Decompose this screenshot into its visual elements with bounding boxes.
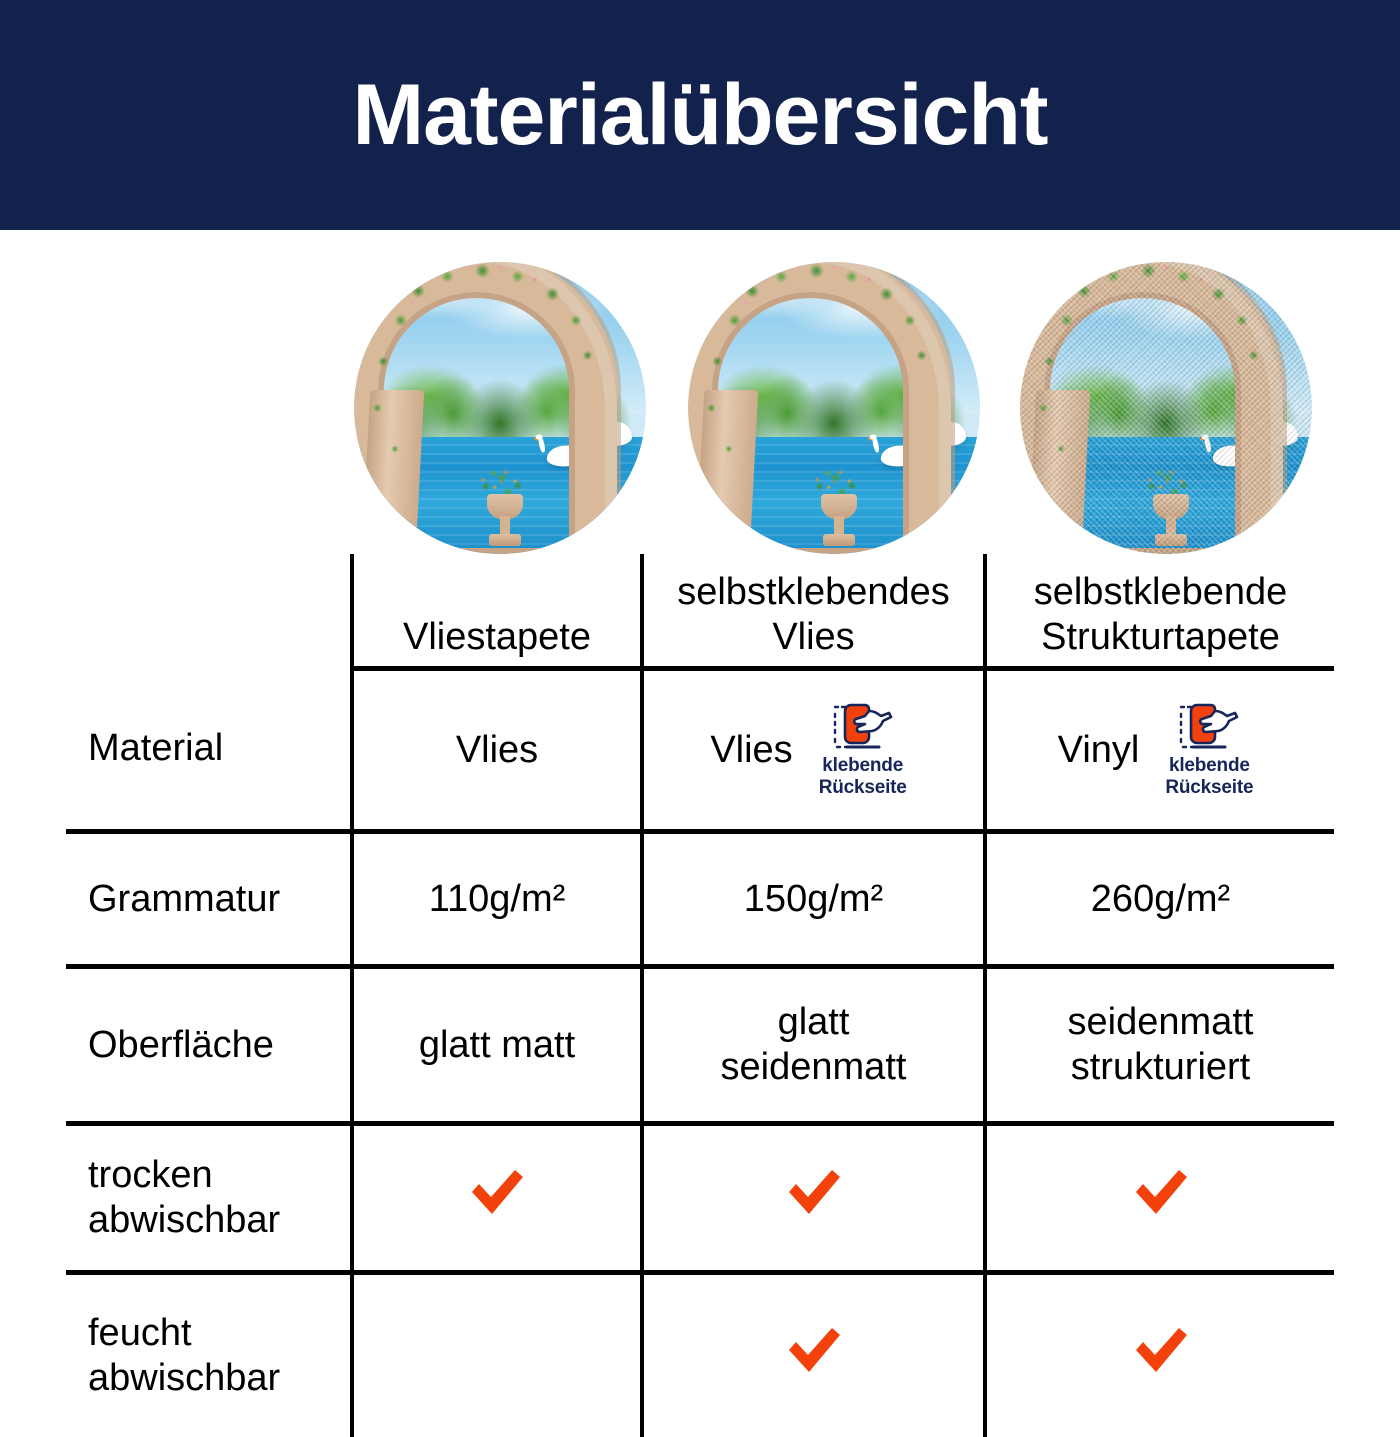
row-label-material: Material <box>66 669 352 832</box>
table-row-trocken-abwischbar: trocken abwischbar <box>66 1124 1334 1273</box>
table-corner-cell <box>66 554 352 669</box>
material-comparison-table: Vliestapete selbstklebendes Vlies selbst… <box>66 554 1334 1400</box>
flower-urn <box>477 462 533 548</box>
table-row-material: Material Vlies Vlies <box>66 669 1334 832</box>
cell-grammatur-strukturtapete: 260g/m² <box>985 832 1334 967</box>
page-header: Materialübersicht <box>0 0 1400 230</box>
row-label-feucht-abwischbar: feucht abwischbar <box>66 1273 352 1437</box>
table-row-grammatur: Grammatur 110g/m² 150g/m² 260g/m² <box>66 832 1334 967</box>
cell-material-selbstklebendes-vlies: Vlies klebende Rück <box>642 669 985 832</box>
cell-feucht-vliestapete <box>352 1273 642 1437</box>
check-icon <box>1130 1164 1192 1222</box>
cell-grammatur-vliestapete: 110g/m² <box>352 832 642 967</box>
table-header-row: Vliestapete selbstklebendes Vlies selbst… <box>66 554 1334 669</box>
flower-urn <box>1143 462 1199 548</box>
check-icon <box>783 1322 845 1380</box>
table-row-feucht-abwischbar: feucht abwischbar <box>66 1273 1334 1437</box>
page-title: Materialübersicht <box>352 72 1047 158</box>
cell-oberflaeche-vliestapete: glatt matt <box>352 967 642 1124</box>
row-label-trocken-abwischbar: trocken abwischbar <box>66 1124 352 1273</box>
check-icon <box>783 1164 845 1222</box>
cell-material-strukturtapete: Vinyl klebende Rück <box>985 669 1334 832</box>
urn-stem <box>1166 516 1176 536</box>
check-icon <box>1130 1322 1192 1380</box>
column-header-selbstklebendes-vlies: selbstklebendes Vlies <box>642 554 985 669</box>
urn-stem <box>500 516 510 536</box>
adhesive-back-badge: klebende Rückseite <box>1155 701 1263 799</box>
cell-feucht-selbstklebendes-vlies <box>642 1273 985 1437</box>
product-photo <box>688 262 980 554</box>
column-header-vliestapete: Vliestapete <box>352 554 642 669</box>
cell-trocken-vliestapete <box>352 1124 642 1273</box>
material-overview-page: Materialübersicht <box>0 0 1400 1400</box>
cell-trocken-selbstklebendes-vlies <box>642 1124 985 1273</box>
cell-feucht-strukturtapete <box>985 1273 1334 1437</box>
adhesive-back-icon <box>1177 701 1241 753</box>
urn-base <box>1155 534 1187 546</box>
thumbnail-selbstklebendes-vlies[interactable] <box>688 262 980 554</box>
cell-trocken-strukturtapete <box>985 1124 1334 1273</box>
flower-urn <box>811 462 867 548</box>
product-photo <box>354 262 646 554</box>
product-photo <box>1020 262 1312 554</box>
urn-base <box>823 534 855 546</box>
thumbnail-selbstklebende-strukturtapete[interactable] <box>1020 262 1312 554</box>
thumbnail-row <box>352 262 1333 554</box>
row-label-oberflaeche: Oberfläche <box>66 967 352 1124</box>
cell-oberflaeche-strukturtapete: seidenmatt strukturiert <box>985 967 1334 1124</box>
cell-value: Vinyl <box>1058 728 1140 773</box>
adhesive-back-label: klebende Rückseite <box>1165 755 1253 799</box>
adhesive-back-icon <box>831 701 895 753</box>
urn-stem <box>834 516 844 536</box>
table-row-oberflaeche: Oberfläche glatt matt glatt seidenmatt s… <box>66 967 1334 1124</box>
urn-base <box>489 534 521 546</box>
cell-grammatur-selbstklebendes-vlies: 150g/m² <box>642 832 985 967</box>
adhesive-back-label: klebende Rückseite <box>819 755 907 799</box>
cell-value: Vlies <box>710 728 792 773</box>
adhesive-back-badge: klebende Rückseite <box>809 701 917 799</box>
cell-material-vliestapete: Vlies <box>352 669 642 832</box>
row-label-grammatur: Grammatur <box>66 832 352 967</box>
cell-oberflaeche-selbstklebendes-vlies: glatt seidenmatt <box>642 967 985 1124</box>
thumbnail-vliestapete[interactable] <box>354 262 646 554</box>
check-icon <box>466 1164 528 1222</box>
column-header-selbstklebende-strukturtapete: selbstklebende Strukturtapete <box>985 554 1334 669</box>
